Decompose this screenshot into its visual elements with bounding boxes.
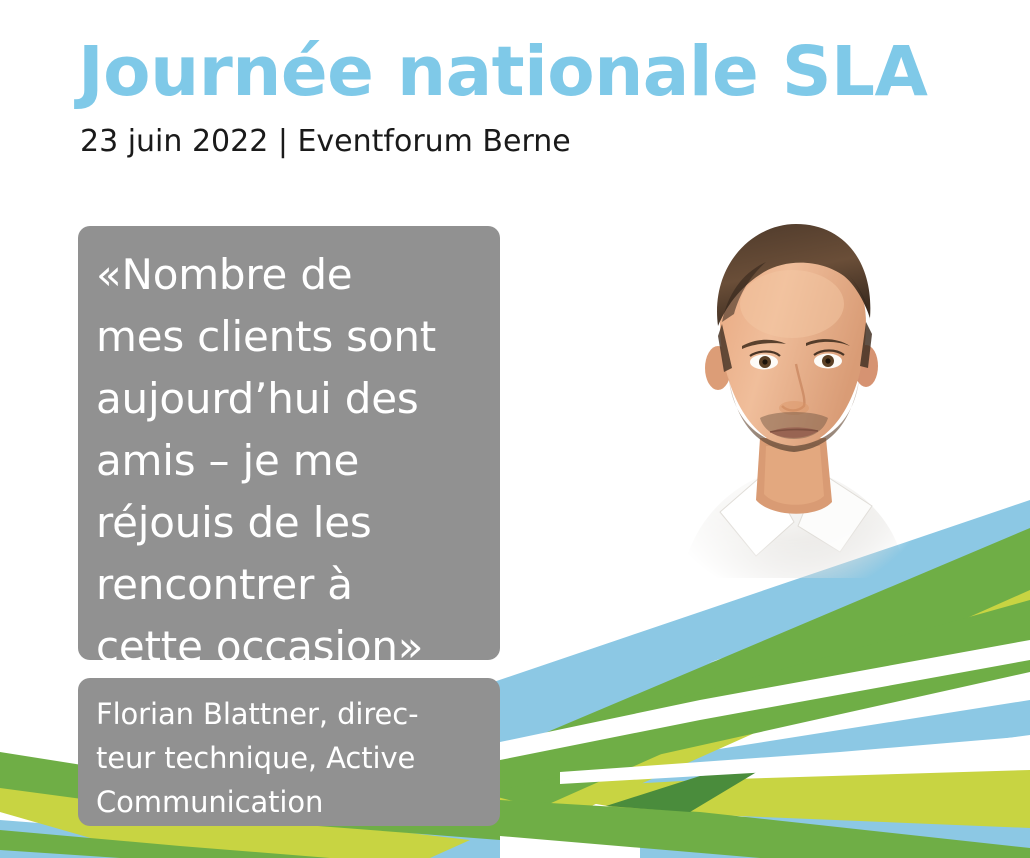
portrait-photo-image: [648, 196, 938, 578]
attribution-text: Florian Blattner, direc- teur technique,…: [96, 692, 478, 824]
quote-text: «Nombre de mes clients sont aujourd’hui …: [96, 244, 478, 678]
poster-header: Journée nationale SLA 23 juin 2022 | Eve…: [78, 34, 927, 160]
attribution-callout: Florian Blattner, direc- teur technique,…: [78, 678, 500, 826]
page-title: Journée nationale SLA: [78, 34, 927, 110]
portrait-photo: [648, 196, 938, 578]
event-date-venue: 23 juin 2022 | Eventforum Berne: [80, 124, 927, 160]
quote-callout: «Nombre de mes clients sont aujourd’hui …: [78, 226, 500, 660]
poster-canvas: Journée nationale SLA 23 juin 2022 | Eve…: [0, 0, 1030, 858]
